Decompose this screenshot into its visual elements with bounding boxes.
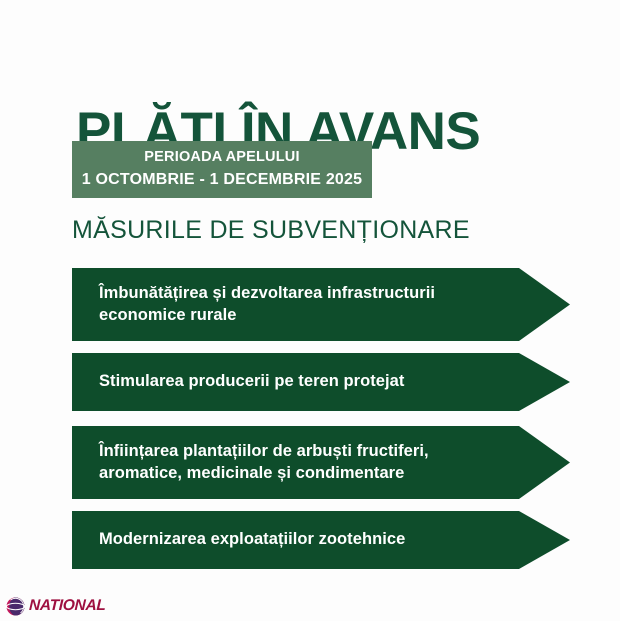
brand-logo: NATIONAL [6, 595, 110, 617]
measure-arrow-item: Modernizarea exploatațiilor zootehnice [72, 511, 570, 569]
measure-label: Înființarea plantațiilor de arbuști fruc… [72, 441, 570, 485]
measure-arrow-item: Stimularea producerii pe teren protejat [72, 353, 570, 411]
poster-canvas: PLĂȚI ÎN AVANS PERIOADA APELULUI 1 OCTOM… [0, 0, 620, 620]
application-period-badge: PERIOADA APELULUI 1 OCTOMBRIE - 1 DECEMB… [72, 141, 372, 198]
brand-wordmark: NATIONAL [29, 598, 106, 614]
period-dates: 1 OCTOMBRIE - 1 DECEMBRIE 2025 [82, 168, 362, 191]
section-subtitle: MĂSURILE DE SUBVENȚIONARE [72, 216, 470, 245]
globe-sphere-icon [6, 597, 25, 616]
measure-label: Îmbunătățirea și dezvoltarea infrastruct… [72, 283, 570, 327]
period-label: PERIOADA APELULUI [144, 147, 299, 168]
measure-arrow-item: Îmbunătățirea și dezvoltarea infrastruct… [72, 268, 570, 341]
measures-list: Îmbunătățirea și dezvoltarea infrastruct… [72, 268, 570, 569]
measure-arrow-item: Înființarea plantațiilor de arbuști fruc… [72, 426, 570, 499]
measure-label: Stimularea producerii pe teren protejat [72, 371, 464, 393]
measure-label: Modernizarea exploatațiilor zootehnice [72, 529, 465, 551]
